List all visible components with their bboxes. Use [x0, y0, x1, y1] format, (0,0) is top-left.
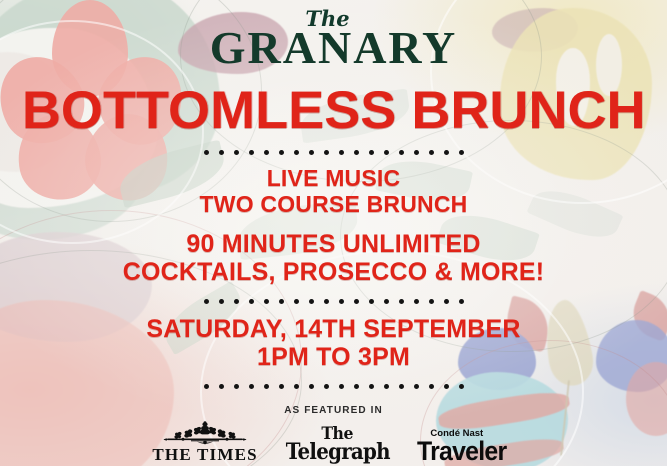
traveler-wordmark: Traveler	[417, 439, 506, 463]
divider-dot	[294, 150, 299, 155]
divider-dot	[279, 299, 284, 304]
divider-dot	[264, 384, 269, 389]
press-logos: THE TIMES The Telegraph Condé Nast Trave…	[152, 421, 514, 463]
headline-bottomless-brunch: BOTTOMLESS BRUNCH	[22, 84, 646, 137]
divider-dot	[309, 150, 314, 155]
detail-two-course-brunch: TWO COURSE BRUNCH	[200, 192, 468, 218]
divider-dot	[444, 299, 449, 304]
divider-dot	[399, 384, 404, 389]
event-date: SATURDAY, 14TH SEPTEMBER	[146, 315, 520, 343]
logo-the: The	[204, 8, 451, 29]
divider-dot	[429, 150, 434, 155]
divider-dot	[354, 384, 359, 389]
granary-logo: The GRANARY	[210, 8, 457, 72]
divider-dot	[294, 299, 299, 304]
detail-live-music: LIVE MUSIC	[267, 166, 401, 192]
poster-content: The GRANARY BOTTOMLESS BRUNCH LIVE MUSIC…	[0, 0, 667, 466]
dotted-divider-top	[204, 150, 464, 155]
divider-dot	[459, 384, 464, 389]
divider-dot	[429, 384, 434, 389]
detail-cocktails-prosecco: COCKTAILS, PROSECCO & MORE!	[123, 258, 545, 286]
divider-dot	[459, 299, 464, 304]
the-times-wordmark: THE TIMES	[152, 446, 257, 463]
divider-dot	[279, 384, 284, 389]
divider-dot	[309, 299, 314, 304]
divider-dot	[219, 150, 224, 155]
divider-dot	[204, 384, 209, 389]
divider-dot	[279, 150, 284, 155]
logo-conde-nast-traveler: Condé Nast Traveler	[417, 430, 514, 464]
divider-dot	[444, 150, 449, 155]
divider-dot	[369, 384, 374, 389]
divider-dot	[369, 299, 374, 304]
telegraph-wordmark: Telegraph	[286, 442, 390, 463]
divider-dot	[324, 150, 329, 155]
divider-dot	[264, 299, 269, 304]
divider-dot	[219, 384, 224, 389]
divider-dot	[249, 384, 254, 389]
royal-crest-icon	[161, 421, 249, 445]
divider-dot	[219, 299, 224, 304]
divider-dot	[234, 150, 239, 155]
divider-dot	[339, 384, 344, 389]
dotted-divider-bottom	[204, 384, 464, 389]
divider-dot	[429, 299, 434, 304]
divider-dot	[459, 150, 464, 155]
divider-dot	[234, 299, 239, 304]
as-featured-in-label: AS FEATURED IN	[284, 405, 383, 416]
divider-dot	[264, 150, 269, 155]
dotted-divider-middle	[204, 299, 464, 304]
event-time: 1PM TO 3PM	[257, 343, 410, 371]
divider-dot	[204, 299, 209, 304]
divider-dot	[414, 299, 419, 304]
logo-granary: GRANARY	[210, 25, 457, 72]
divider-dot	[234, 384, 239, 389]
divider-dot	[354, 150, 359, 155]
detail-90-minutes-unlimited: 90 MINUTES UNLIMITED	[186, 230, 480, 258]
divider-dot	[294, 384, 299, 389]
divider-dot	[204, 150, 209, 155]
divider-dot	[384, 384, 389, 389]
divider-dot	[399, 299, 404, 304]
divider-dot	[384, 299, 389, 304]
divider-dot	[324, 299, 329, 304]
logo-the-telegraph: The Telegraph	[280, 426, 396, 463]
divider-dot	[309, 384, 314, 389]
logo-the-times: THE TIMES	[152, 421, 257, 463]
divider-dot	[324, 384, 329, 389]
divider-dot	[414, 150, 419, 155]
bottomless-brunch-poster: The GRANARY BOTTOMLESS BRUNCH LIVE MUSIC…	[0, 0, 667, 466]
divider-dot	[444, 384, 449, 389]
divider-dot	[354, 299, 359, 304]
divider-dot	[369, 150, 374, 155]
divider-dot	[249, 150, 254, 155]
divider-dot	[414, 384, 419, 389]
divider-dot	[399, 150, 404, 155]
divider-dot	[384, 150, 389, 155]
divider-dot	[249, 299, 254, 304]
divider-dot	[339, 299, 344, 304]
divider-dot	[339, 150, 344, 155]
